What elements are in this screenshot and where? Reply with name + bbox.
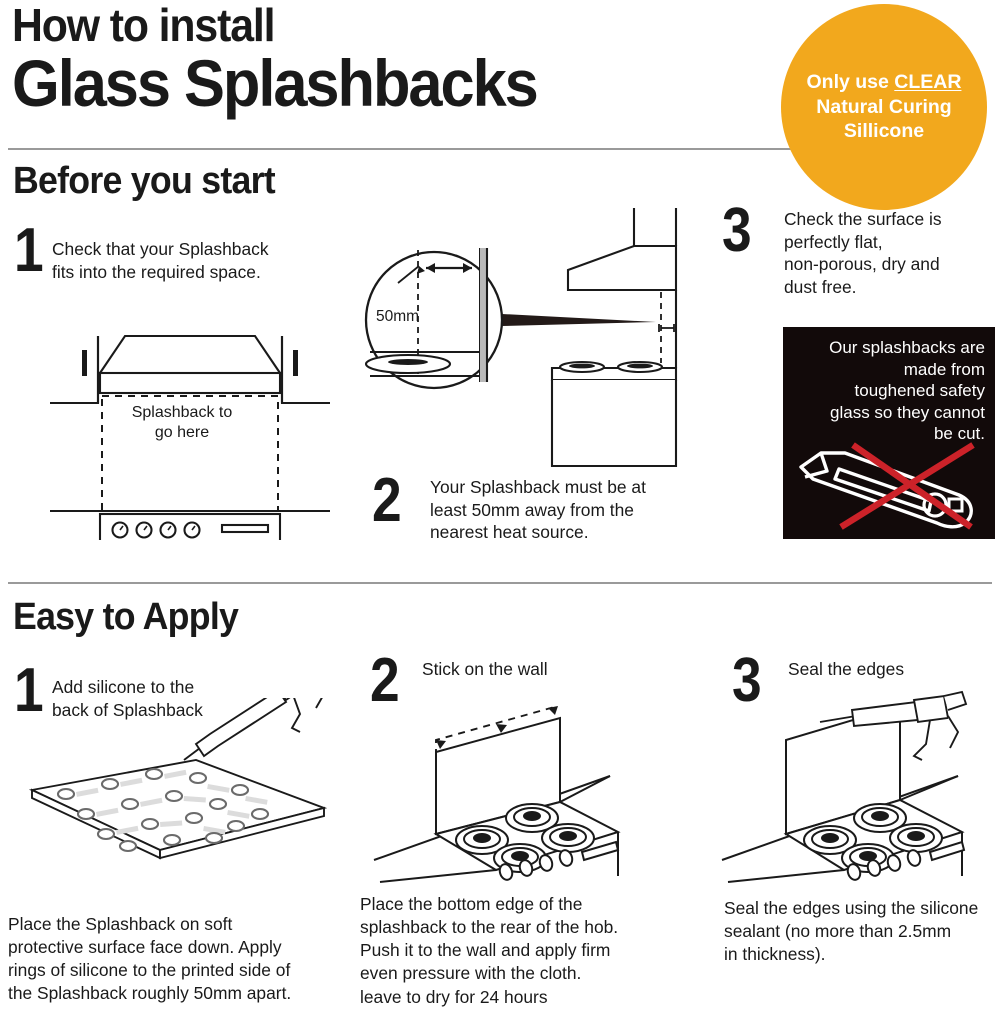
diagram-label-50mm: 50mm: [376, 308, 419, 326]
step-text-apply-2: Stick on the wall: [422, 658, 672, 681]
step-text-before-3: Check the surface is perfectly flat, non…: [784, 208, 999, 299]
diagram-apply-silicone: [24, 698, 344, 898]
step-number-before-2: 2: [372, 476, 402, 527]
step-text-before-1: Check that your Splashback fits into the…: [52, 238, 332, 283]
badge-line3: Sillicone: [844, 119, 924, 144]
step-text-before-2: Your Splashback must be at least 50mm aw…: [430, 476, 695, 544]
caption-apply-2: Place the bottom edge of the splashback …: [360, 893, 690, 1009]
caption-apply-1: Place the Splashback on soft protective …: [8, 913, 338, 1006]
utility-knife-icon: [783, 439, 995, 539]
badge-line2: Natural Curing: [816, 95, 951, 120]
caption-apply-3: Seal the edges using the silicone sealan…: [724, 897, 1000, 966]
step-number-before-1: 1: [14, 226, 44, 277]
section-heading-before-you-start: Before you start: [13, 160, 275, 203]
page-title-line2: Glass Splashbacks: [12, 50, 537, 116]
step-number-before-3: 3: [722, 206, 752, 257]
diagram-stick-on-wall: [360, 680, 690, 890]
caulking-gun-icon: [184, 698, 324, 760]
diagram-seal-edges: [700, 676, 1000, 891]
badge-clear-emphasis: CLEAR: [894, 71, 961, 93]
badge-line1: Only use CLEAR: [807, 70, 962, 95]
silicone-advice-badge: Only use CLEAR Natural Curing Sillicone: [781, 4, 987, 210]
divider-middle: [8, 582, 992, 584]
diagram-label-splashback-here: Splashback to go here: [102, 403, 262, 444]
section-heading-easy-to-apply: Easy to Apply: [13, 596, 238, 639]
badge-line1-prefix: Only use: [807, 71, 895, 93]
page-title-line1: How to install: [12, 2, 274, 50]
diagram-heat-clearance: [356, 200, 696, 470]
warning-box-cannot-be-cut: Our splashbacks are made from toughened …: [783, 327, 995, 539]
warning-text: Our splashbacks are made from toughened …: [791, 337, 985, 445]
